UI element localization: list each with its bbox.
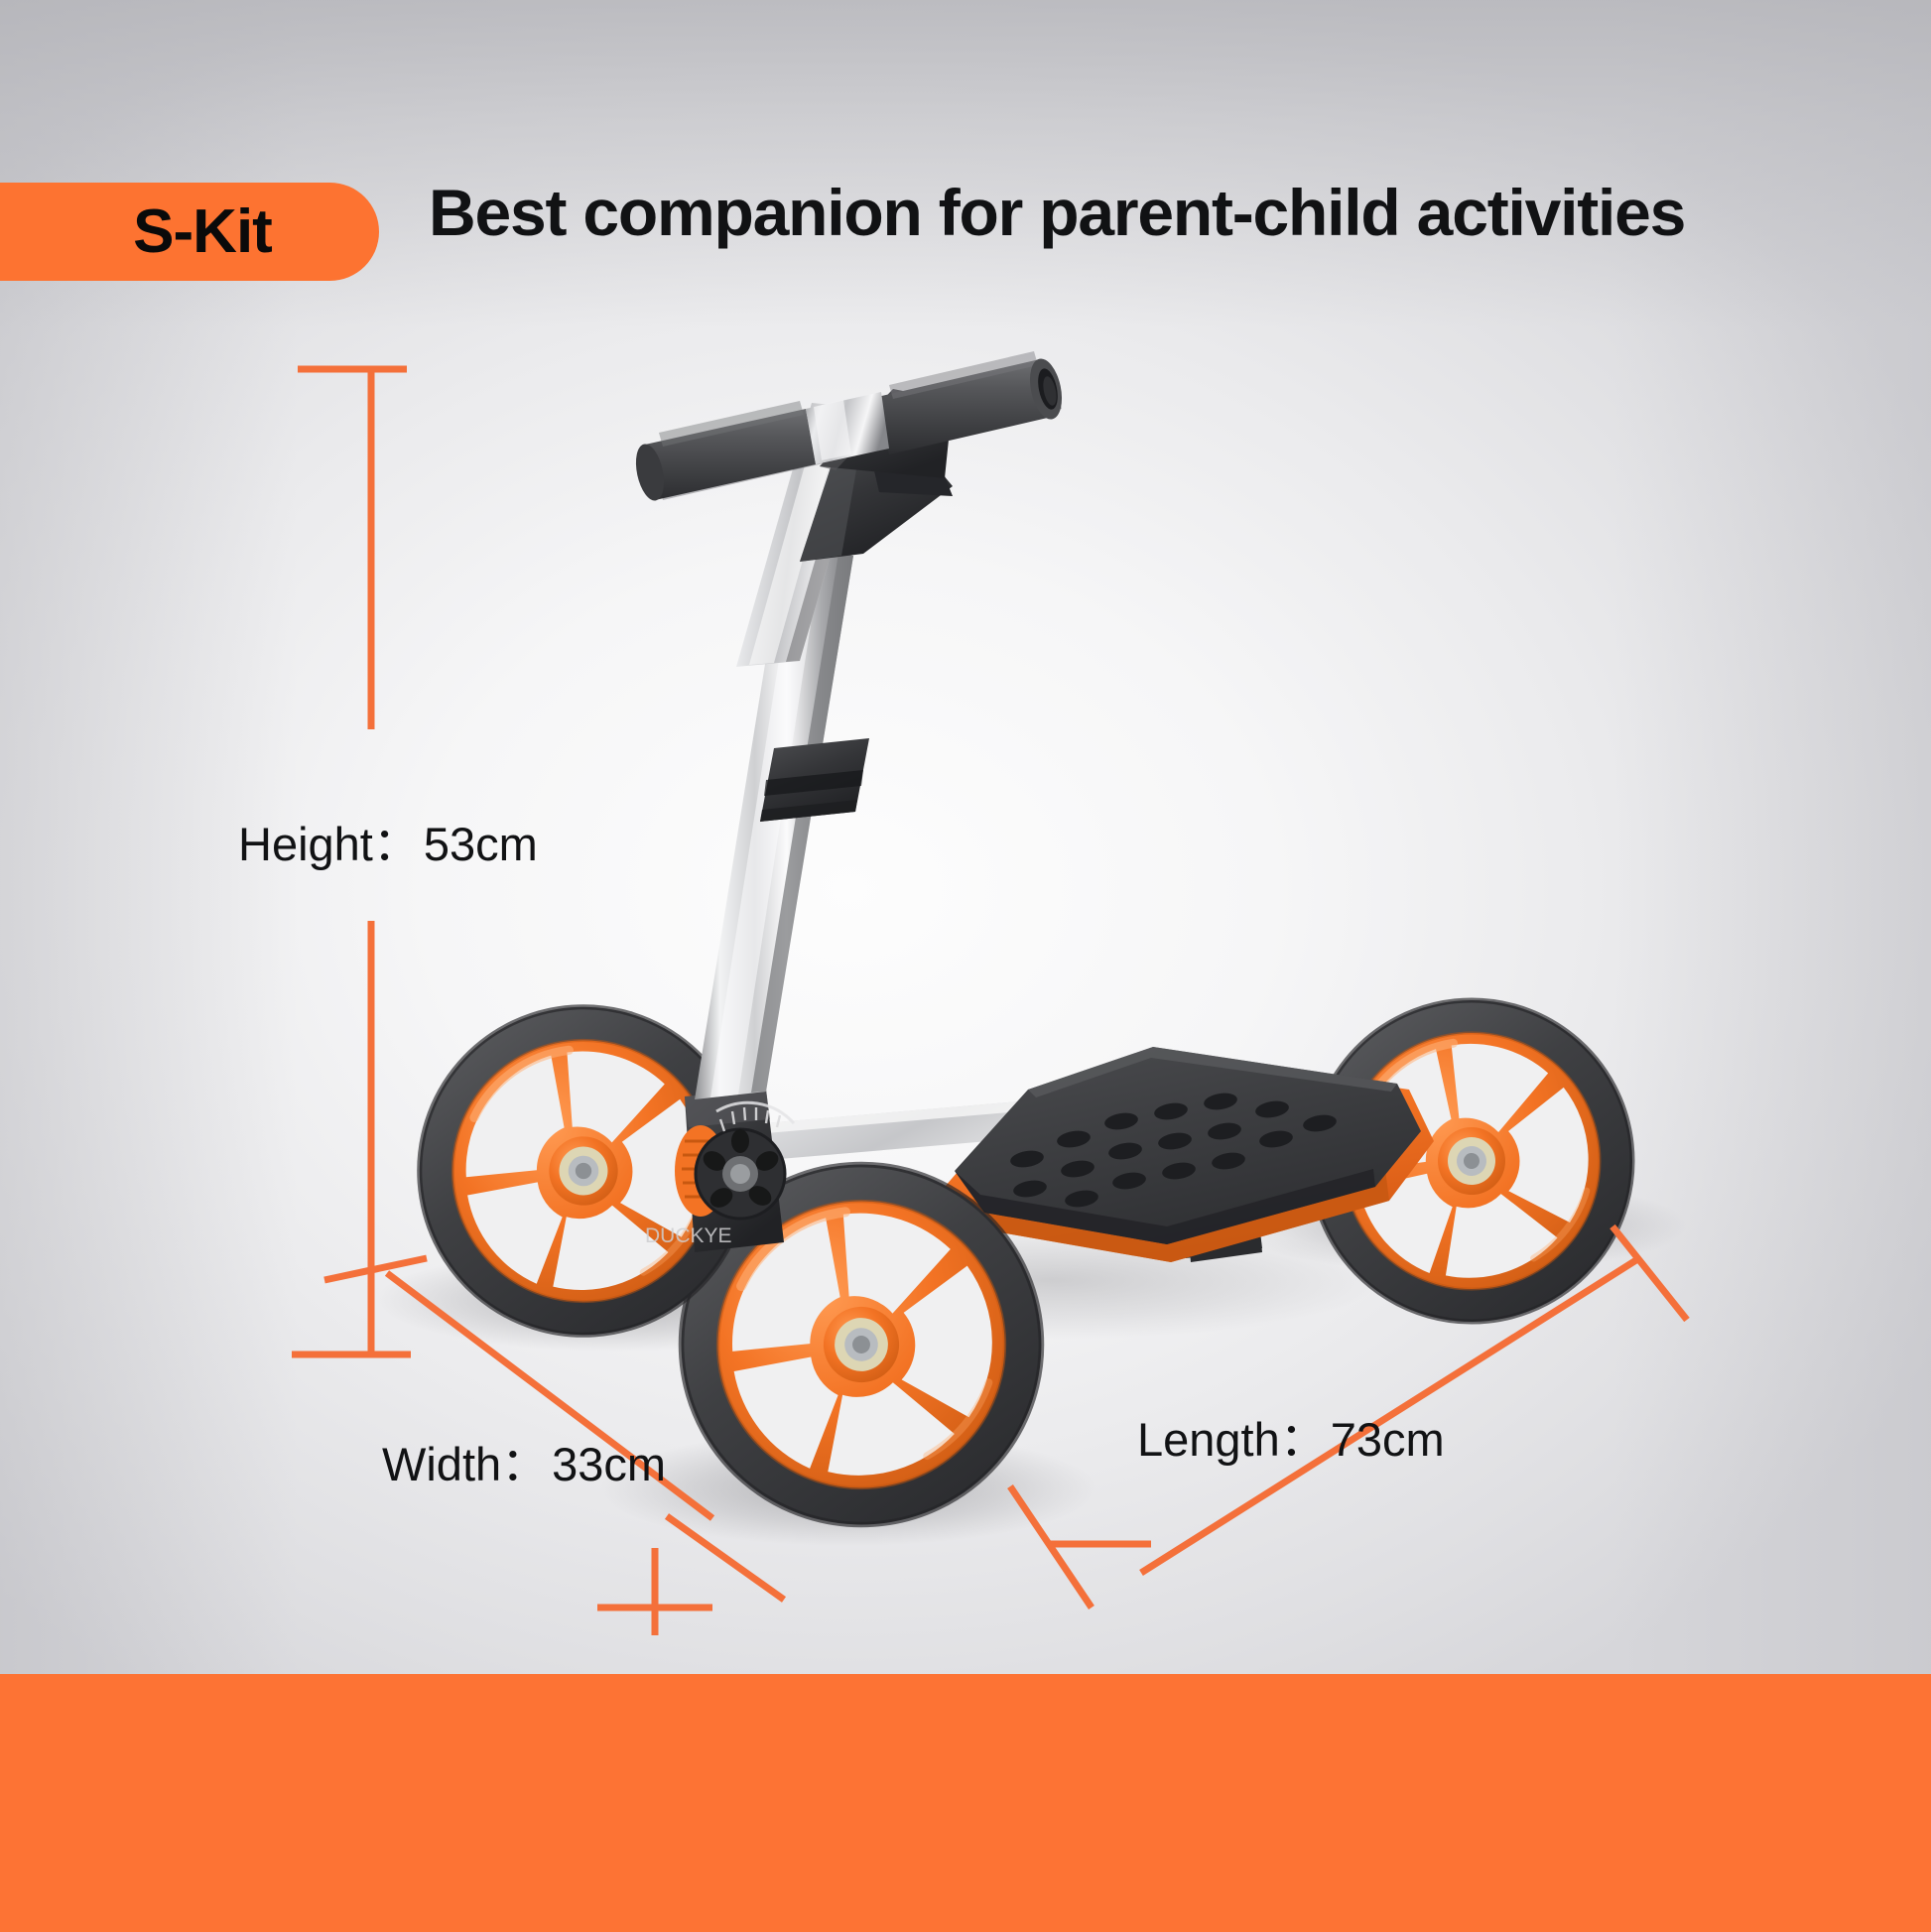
product-badge: S-Kit [0,183,379,281]
dimension-label-height-text: Height： [238,818,420,870]
dimension-label-length-text: Length： [1137,1413,1327,1466]
product-image: DUCKYE [0,0,1931,1932]
brand-text-hub: DUCKYE [645,1224,732,1247]
dimension-label-height: Height：53cm [238,806,538,874]
page-title: Best companion for parent-child activiti… [429,175,1685,250]
product-badge-label: S-Kit [0,183,379,281]
footer-bar [0,1674,1931,1932]
dimension-value-length: 73cm [1331,1413,1445,1466]
dimension-value-width: 33cm [552,1438,666,1490]
product-infographic: DUCKYE [0,0,1931,1932]
handlebar-grip-right [877,351,1067,454]
dimension-label-width: Width：33cm [382,1426,666,1494]
stem-strap [760,738,869,822]
dimension-label-width-text: Width： [382,1438,548,1490]
dimension-label-length: Length：73cm [1137,1401,1445,1470]
dimension-value-height: 53cm [424,818,538,870]
